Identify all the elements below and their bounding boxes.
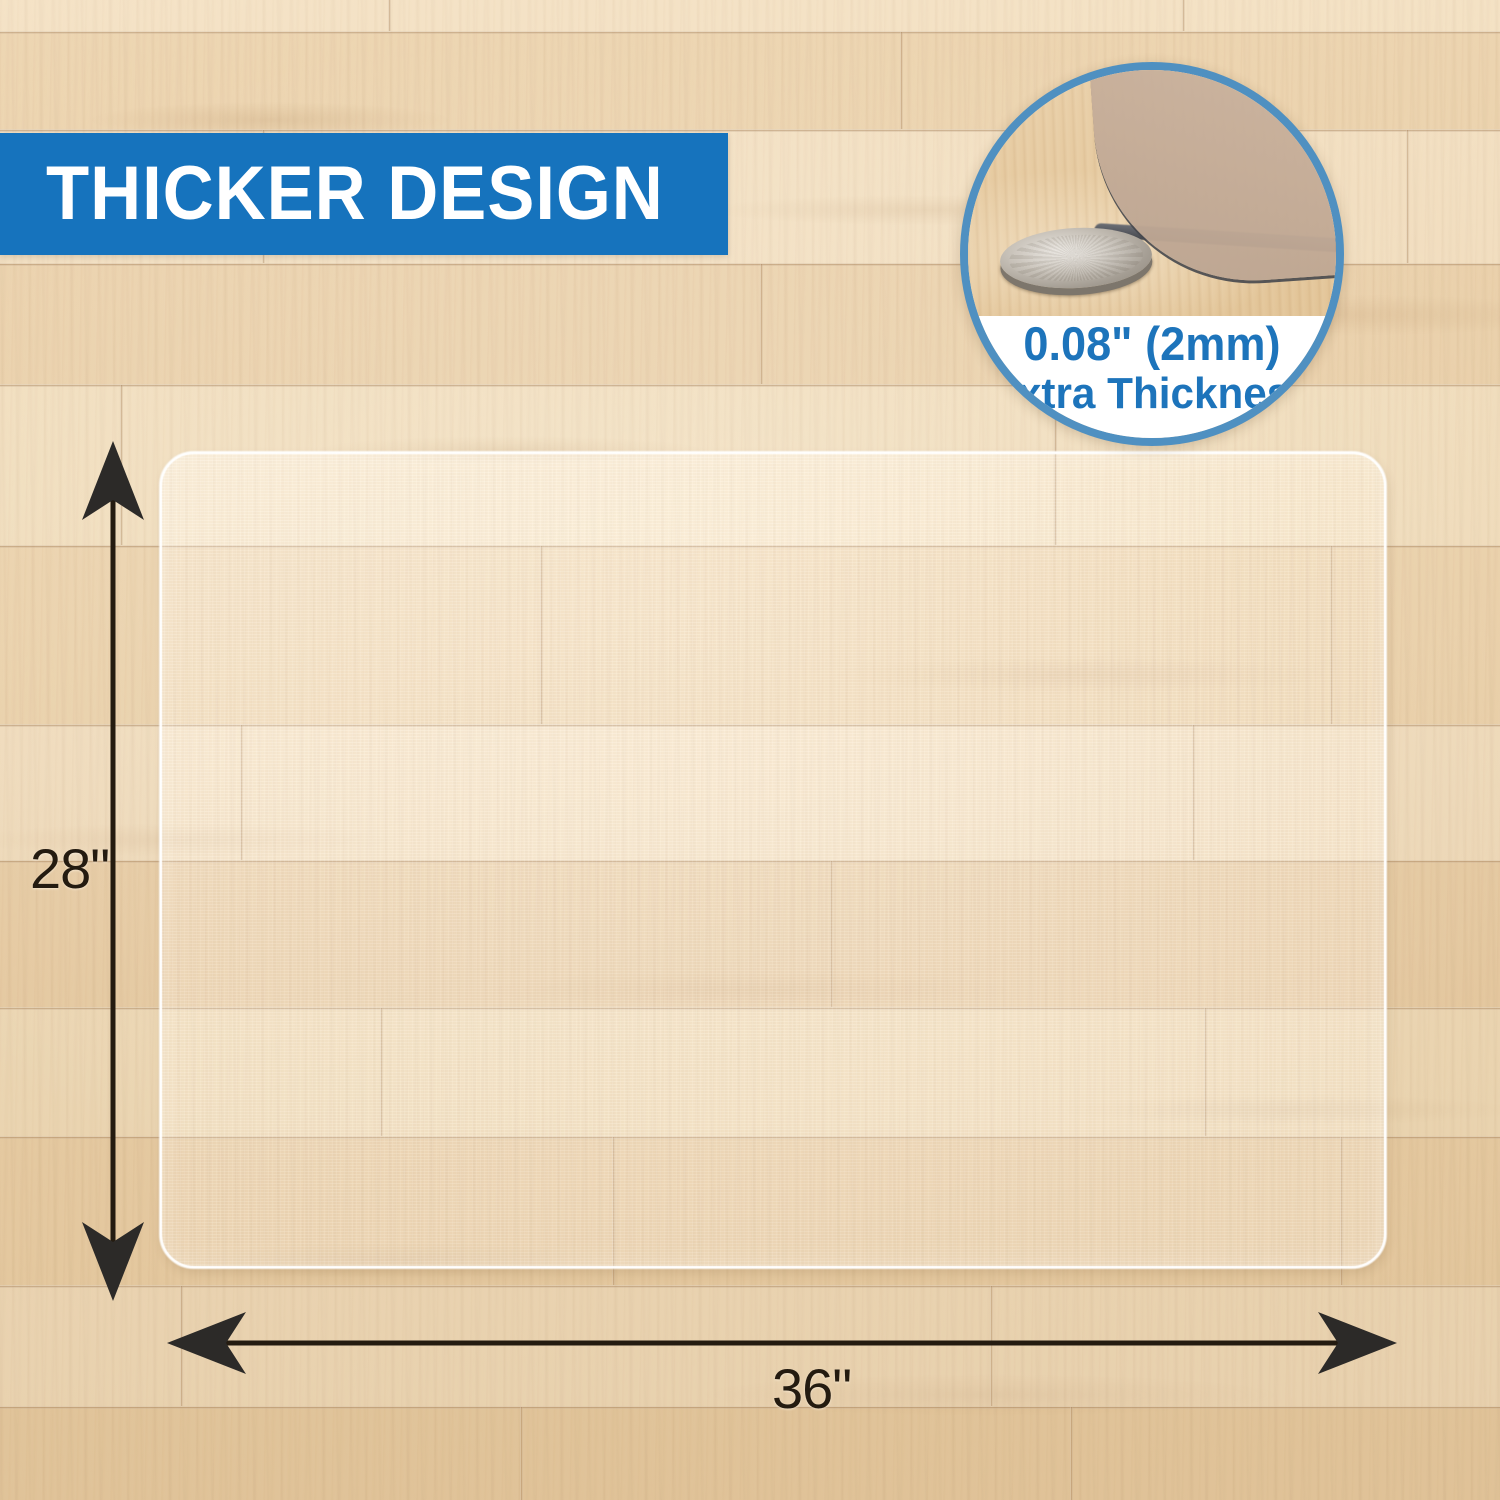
height-dimension-label: 28" [30, 836, 109, 901]
plank-band [0, 1286, 1500, 1406]
plank-joint [900, 32, 903, 129]
thickness-caption-panel: 0.08" (2mm) Extra Thickness [968, 316, 1336, 438]
plank-seam [0, 1285, 1500, 1288]
thickness-label-text: Extra Thickness [990, 372, 1314, 417]
mat-edge-highlight [159, 451, 1387, 1269]
plank-seam [0, 1406, 1500, 1409]
plank-joint [520, 1407, 523, 1500]
thickness-callout-badge: 0.08" (2mm) Extra Thickness [960, 62, 1344, 446]
plank-joint [180, 1286, 183, 1406]
plank-band [0, 0, 1500, 32]
plank-joint [388, 0, 391, 31]
thicker-design-banner: THICKER DESIGN [0, 133, 728, 255]
plank-joint [990, 1286, 993, 1406]
plank-joint [120, 385, 123, 545]
product-image-canvas: 28" 36" THICKER DESIGN 0.08" (2mm) Extra… [0, 0, 1500, 1500]
thickness-value-text: 0.08" (2mm) [1023, 320, 1280, 368]
plank-joint [1070, 1407, 1073, 1500]
width-dimension-label: 36" [772, 1356, 851, 1421]
plank-band [0, 1407, 1500, 1500]
banner-headline: THICKER DESIGN [46, 156, 664, 232]
chair-mat [160, 452, 1386, 1268]
plank-joint [1182, 0, 1185, 31]
plank-joint [760, 264, 763, 384]
thickness-closeup-photo [968, 70, 1336, 316]
plank-joint [1406, 130, 1409, 263]
plank-seam [0, 31, 1500, 34]
